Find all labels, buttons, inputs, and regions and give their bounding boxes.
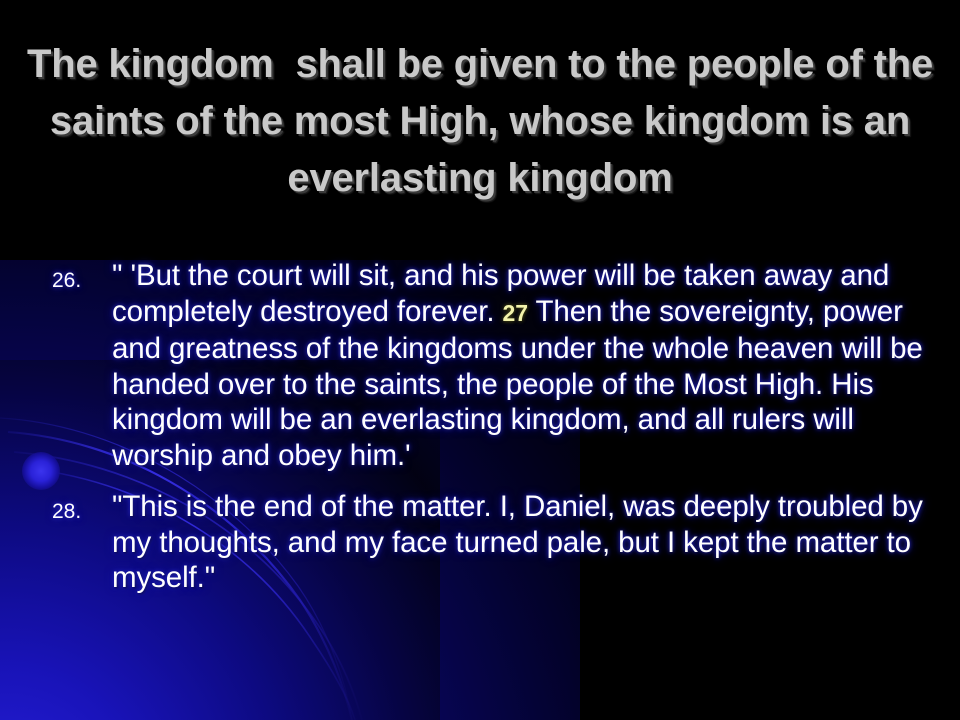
list-item-text: " 'But the court will sit, and his power… (112, 258, 942, 473)
verse-number-27: 27 (503, 300, 528, 326)
slide-title: The kingdom shall be given to the people… (8, 36, 952, 208)
list-item: 28. "This is the end of the matter. I, D… (52, 489, 942, 596)
scripture-text-part-1: "This is the end of the matter. I, Danie… (112, 490, 923, 594)
slide-body-list: 26. " 'But the court will sit, and his p… (52, 258, 942, 612)
presentation-slide: The kingdom shall be given to the people… (0, 0, 960, 720)
list-item-number: 26. (52, 258, 112, 298)
list-item: 26. " 'But the court will sit, and his p… (52, 258, 942, 473)
list-item-text: "This is the end of the matter. I, Danie… (112, 489, 942, 596)
list-item-number: 28. (52, 489, 112, 529)
